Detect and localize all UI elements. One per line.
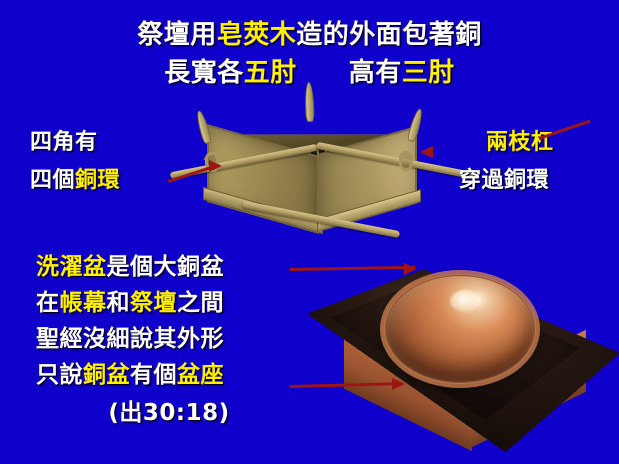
laver-label-line-3-text: 聖經沒細說其外形 xyxy=(36,326,224,352)
altar-left-label-line-2: 四個銅環 xyxy=(30,170,120,192)
laver-label-line-1-white: 是個大銅盆 xyxy=(107,254,225,280)
scripture-reference-text: (出30:18) xyxy=(108,400,229,426)
laver-label-line-2-d: 祭壇 xyxy=(130,290,177,316)
laver-label-line-2-e: 之間 xyxy=(177,290,224,316)
arrowhead-altar-rings xyxy=(209,160,222,172)
altar-horn-back xyxy=(304,82,314,122)
laver-label-line-4: 只說銅盆有個盆座 xyxy=(36,364,224,387)
title-line-2-segment-3: 高有 xyxy=(349,58,402,88)
laver-label-line-1-yellow: 洗濯盆 xyxy=(36,254,107,280)
altar-right-label-line-2: 穿過銅環 xyxy=(459,170,549,192)
title-line-1-segment-3: 造的外面包著銅 xyxy=(296,20,482,50)
altar-left-label-line-2-white: 四個 xyxy=(30,168,75,193)
laver-bowl-highlight xyxy=(450,290,480,312)
laver-label-line-3: 聖經沒細說其外形 xyxy=(36,328,224,351)
altar-left-label-line-1: 四角有 xyxy=(30,132,98,154)
laver-label-line-2-a: 在 xyxy=(36,290,60,316)
laver-label-line-4-b: 銅盆 xyxy=(83,362,130,388)
altar-left-label-line-2-yellow: 銅環 xyxy=(75,168,120,193)
altar-bronze-ring-right xyxy=(399,151,413,171)
arrowhead-laver-base xyxy=(392,378,405,390)
title-line-2-segment-2: 五肘 xyxy=(244,58,297,88)
title-line-2-segment-4: 三肘 xyxy=(402,58,455,88)
laver-label-line-2-c: 和 xyxy=(107,290,131,316)
title-line-1-segment-1: 祭壇用 xyxy=(137,20,217,50)
laver-label-line-1: 洗濯盆是個大銅盆 xyxy=(36,256,224,279)
altar-right-label-line-2-text: 穿過銅環 xyxy=(459,168,549,193)
laver-label-line-4-d: 盆座 xyxy=(177,362,224,388)
arrowhead-laver-bowl xyxy=(404,263,417,275)
laver-label-line-4-c: 有個 xyxy=(130,362,177,388)
arrowhead-altar-poles xyxy=(420,146,433,158)
title-line-2-segment-1: 長寬各 xyxy=(164,58,244,88)
altar-left-label-line-1-text: 四角有 xyxy=(30,130,98,155)
altar-right-label-line-1-text: 兩枝杠 xyxy=(486,130,554,155)
laver-label-line-2-b: 帳幕 xyxy=(60,290,107,316)
laver-label-line-4-a: 只說 xyxy=(36,362,83,388)
title-line-1-segment-2: 皂莢木 xyxy=(217,20,297,50)
laver-bowl-rim xyxy=(380,270,540,388)
slide-canvas: 祭壇用皂莢木造的外面包著銅 長寬各五肘高有三肘 四角有 四個銅環 xyxy=(0,0,619,464)
laver-label-line-2: 在帳幕和祭壇之間 xyxy=(36,292,224,315)
scripture-reference: (出30:18) xyxy=(36,402,302,425)
bronze-altar-illustration xyxy=(185,88,435,248)
title-line-1: 祭壇用皂莢木造的外面包著銅 xyxy=(0,22,619,48)
altar-horn-right xyxy=(406,107,424,142)
